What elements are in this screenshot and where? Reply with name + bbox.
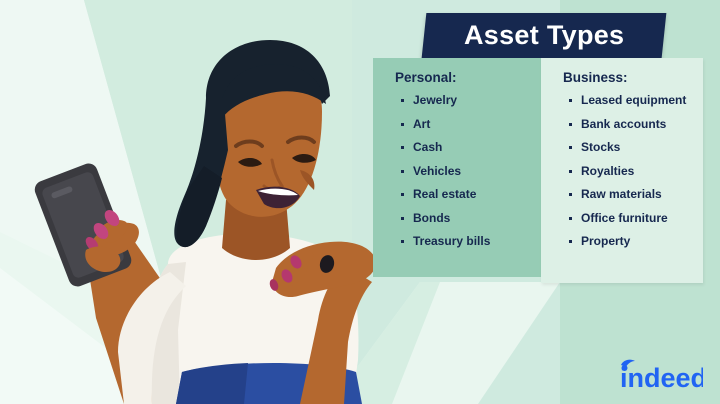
list-item: Property: [569, 235, 693, 248]
list-item: Leased equipment: [569, 94, 693, 107]
list-item: Art: [401, 118, 531, 131]
page-title: Asset Types: [464, 20, 624, 51]
list-item: Office furniture: [569, 212, 693, 225]
indeed-wordmark-text: indeed: [620, 363, 703, 391]
panel-personal: Personal: Jewelry Art Cash Vehicles Real…: [373, 58, 541, 277]
list-item: Bank accounts: [569, 118, 693, 131]
list-item: Raw materials: [569, 188, 693, 201]
slide-canvas: Asset Types Personal: Jewelry Art Cash V…: [0, 0, 720, 404]
list-item: Royalties: [569, 165, 693, 178]
panel-business: Business: Leased equipment Bank accounts…: [541, 58, 703, 283]
panel-business-list: Leased equipment Bank accounts Stocks Ro…: [555, 94, 693, 248]
list-item: Stocks: [569, 141, 693, 154]
list-item: Jewelry: [401, 94, 531, 107]
list-item: Cash: [401, 141, 531, 154]
panel-personal-list: Jewelry Art Cash Vehicles Real estate Bo…: [387, 94, 531, 248]
panel-business-heading: Business:: [563, 70, 693, 85]
title-banner: Asset Types: [422, 13, 667, 58]
list-item: Real estate: [401, 188, 531, 201]
indeed-wordmark-icon: indeed: [617, 357, 703, 391]
list-item: Vehicles: [401, 165, 531, 178]
list-item: Treasury bills: [401, 235, 531, 248]
list-item: Bonds: [401, 212, 531, 225]
indeed-logo: indeed: [617, 357, 703, 391]
panel-personal-heading: Personal:: [395, 70, 531, 85]
